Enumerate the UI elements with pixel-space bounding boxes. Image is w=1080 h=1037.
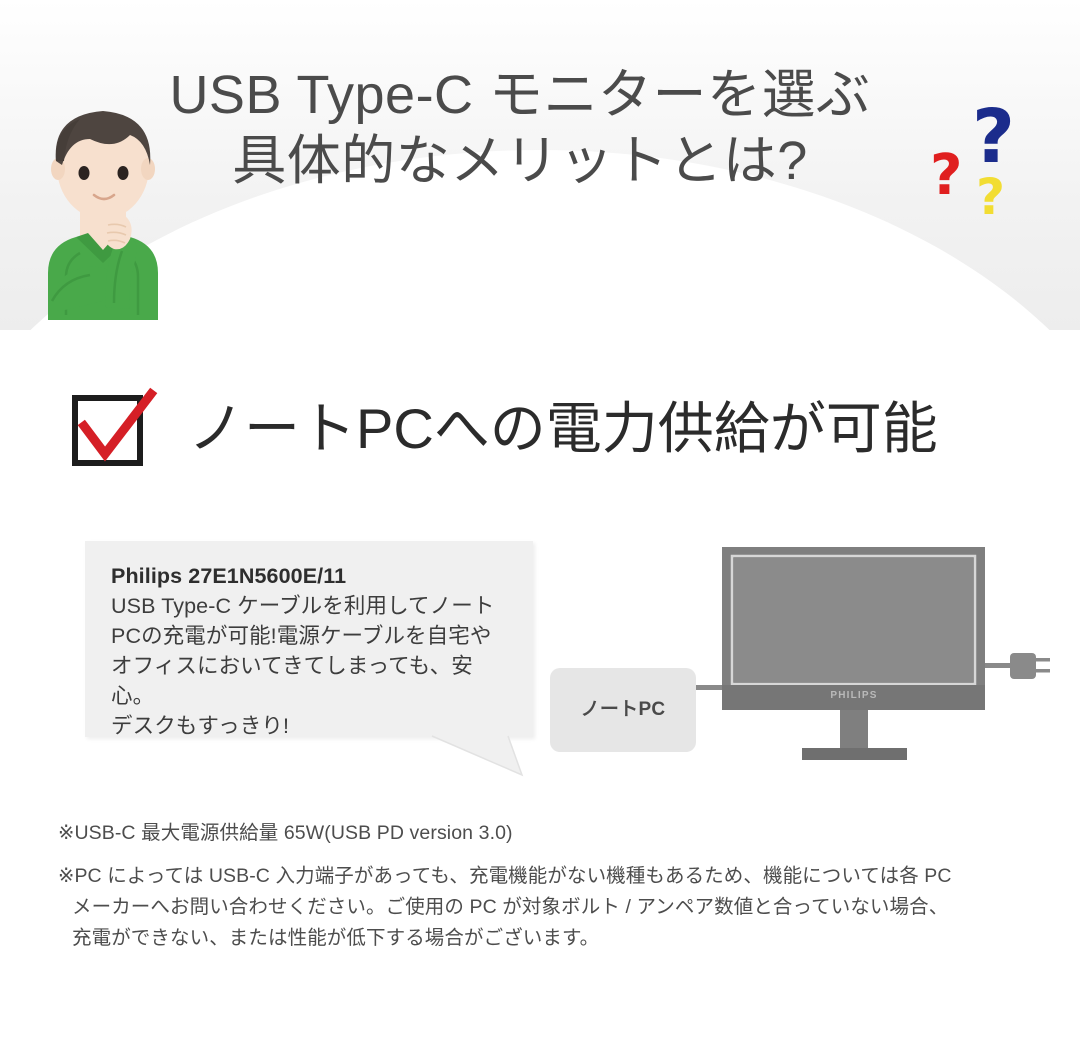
- section-heading: ノートPCへの電力供給が可能: [72, 392, 938, 466]
- title-line-1: USB Type-C モニターを選ぶ: [120, 62, 920, 128]
- footnote-2-line-c: 充電ができない、または性能が低下する場合がございます。: [58, 923, 1058, 954]
- checkbox-checked-icon: [72, 392, 146, 466]
- footnote-2: ※PC によっては USB-C 入力端子があっても、充電機能がない機種もあるため…: [58, 861, 1058, 954]
- section-heading-label: ノートPCへの電力供給が可能: [188, 399, 938, 459]
- question-mark-cluster: ? ? ?: [930, 100, 1050, 230]
- power-plug: [1010, 653, 1036, 679]
- monitor-brand-logo: PHILIPS: [806, 690, 902, 701]
- footnotes: ※USB-C 最大電源供給量 65W(USB PD version 3.0) ※…: [58, 818, 1058, 954]
- power-delivery-diagram: [540, 535, 1060, 775]
- question-mark-yellow-icon: ?: [976, 172, 1005, 222]
- title-line-2: 具体的なメリットとは?: [120, 128, 920, 194]
- question-mark-blue-icon: ?: [972, 100, 1015, 174]
- infographic-page: USB Type-C モニターを選ぶ 具体的なメリットとは? ? ? ? ノート…: [0, 0, 1080, 1037]
- laptop-label: ノートPC: [550, 694, 696, 721]
- speech-bubble-tail: [430, 735, 540, 780]
- footnote-2-line-b: メーカーへお問い合わせください。ご使用の PC が対象ボルト / アンペア数値と…: [58, 892, 1058, 923]
- speech-bubble-text: Philips 27E1N5600E/11 USB Type-C ケーブルを利用…: [85, 541, 533, 741]
- footnote-1: ※USB-C 最大電源供給量 65W(USB PD version 3.0): [58, 818, 1058, 849]
- question-mark-red-icon: ?: [930, 148, 962, 204]
- page-title: USB Type-C モニターを選ぶ 具体的なメリットとは?: [120, 62, 920, 194]
- bubble-body-line-1: USB Type-C ケーブルを利用してノート: [111, 591, 511, 621]
- product-name: Philips 27E1N5600E/11: [111, 561, 511, 591]
- footnote-2-line-a: ※PC によっては USB-C 入力端子があっても、充電機能がない機種もあるため…: [58, 865, 952, 887]
- speech-bubble: Philips 27E1N5600E/11 USB Type-C ケーブルを利用…: [85, 541, 533, 737]
- bubble-body-line-3: オフィスにおいてきてしまっても、安心。: [111, 651, 511, 711]
- bubble-body-line-2: PCの充電が可能!電源ケーブルを自宅や: [111, 621, 511, 651]
